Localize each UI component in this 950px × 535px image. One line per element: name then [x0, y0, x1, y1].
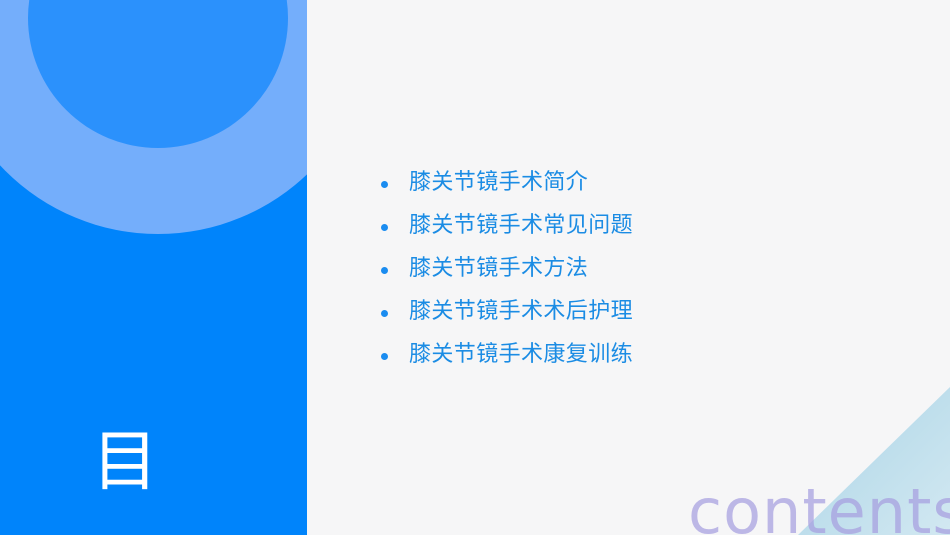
- contents-watermark: contents: [688, 481, 950, 535]
- list-item[interactable]: 膝关节镜手术简介: [381, 168, 901, 211]
- table-of-contents-list: 膝关节镜手术简介 膝关节镜手术常见问题 膝关节镜手术方法 膝关节镜手术术后护理 …: [381, 168, 901, 383]
- bullet-dot-icon: [381, 353, 388, 360]
- list-item[interactable]: 膝关节镜手术常见问题: [381, 211, 901, 254]
- bullet-dot-icon: [381, 267, 388, 274]
- list-item-label: 膝关节镜手术简介: [409, 168, 588, 198]
- page-title: 目 录: [0, 296, 250, 535]
- list-item[interactable]: 膝关节镜手术康复训练: [381, 340, 901, 383]
- page-title-char-1: 目: [0, 428, 250, 494]
- bullet-dot-icon: [381, 310, 388, 317]
- list-item-label: 膝关节镜手术方法: [409, 254, 588, 284]
- slide-canvas: 目 录 膝关节镜手术简介 膝关节镜手术常见问题 膝关节镜手术方法 膝关节镜手术术…: [0, 0, 950, 535]
- list-item-label: 膝关节镜手术康复训练: [409, 340, 633, 370]
- list-item-label: 膝关节镜手术术后护理: [409, 297, 633, 327]
- decorative-ring-inner: [0, 0, 307, 234]
- list-item[interactable]: 膝关节镜手术术后护理: [381, 297, 901, 340]
- bullet-dot-icon: [381, 181, 388, 188]
- list-item[interactable]: 膝关节镜手术方法: [381, 254, 901, 297]
- sidebar-panel: 目 录: [0, 0, 307, 535]
- bullet-dot-icon: [381, 224, 388, 231]
- list-item-label: 膝关节镜手术常见问题: [409, 211, 633, 241]
